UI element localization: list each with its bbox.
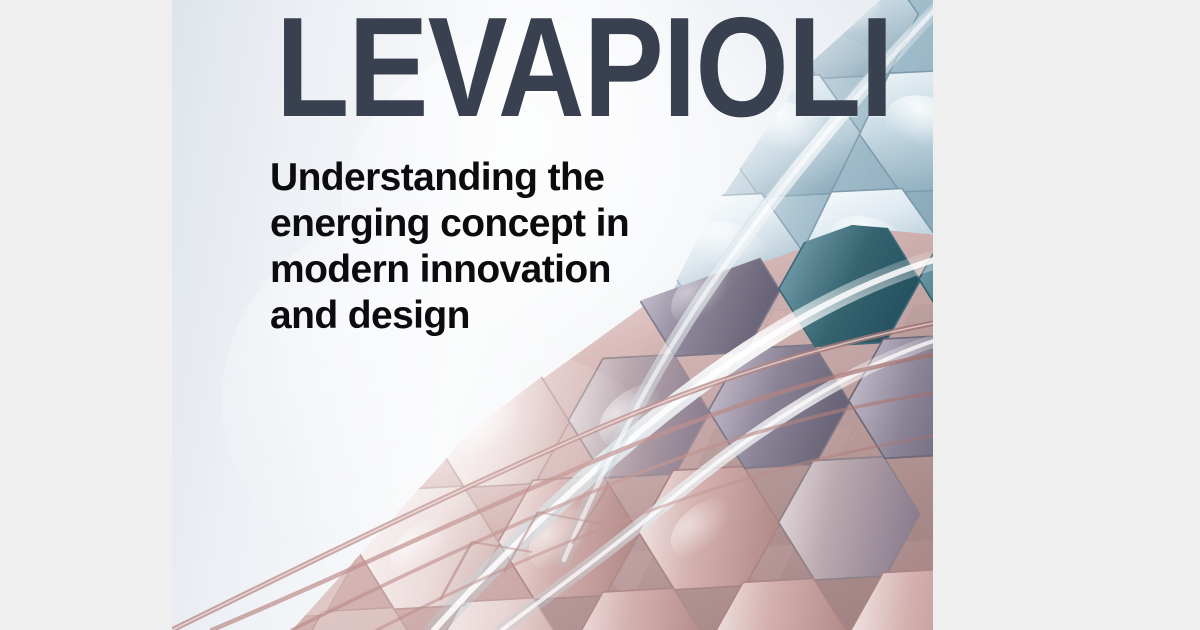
letterbox-left <box>0 0 172 630</box>
poster-frame: LEVAPIOLI Understanding the energing con… <box>0 0 1200 630</box>
subtitle-line-4: and design <box>270 293 700 339</box>
letterbox-right <box>933 0 1200 630</box>
cover-artwork: LEVAPIOLI Understanding the energing con… <box>172 0 933 630</box>
subtitle-line-2: energing concept in <box>270 201 700 247</box>
subtitle-line-3: modern innovation <box>270 247 700 293</box>
subtitle-line-1: Understanding the <box>270 155 700 201</box>
poster-title: LEVAPIOLI <box>276 0 893 142</box>
poster-subtitle: Understanding the energing concept in mo… <box>270 155 700 339</box>
